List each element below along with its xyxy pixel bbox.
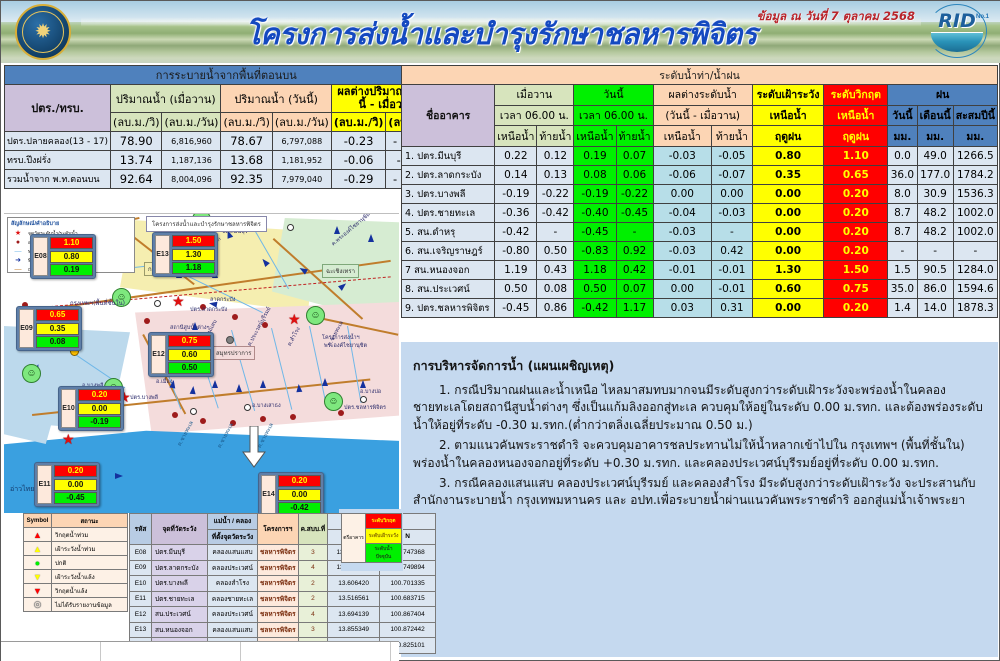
map-project-label: พระองค์ไชยานุชิต — [324, 342, 367, 350]
map-gate-icon — [226, 336, 234, 344]
right-cell-yest-up: 0.22 — [495, 147, 537, 166]
right-row-name: 4. ปตร.ชายทะเล — [402, 204, 495, 223]
callout-watch-value: 0.00 — [78, 403, 121, 415]
left-group-yesterday: ปริมาณน้ำ (เมื่อวาน) — [111, 85, 221, 113]
map-gate-label: ปตร.บางพลี — [130, 394, 158, 402]
right-cell-rain-month: - — [917, 242, 953, 261]
left-cell-y-cmd: 6,816,960 — [162, 132, 221, 151]
callout-crisis-value: 1.10 — [50, 237, 93, 249]
status-col-header: สถานะ — [52, 514, 128, 528]
station-project-header: โครงการฯ — [258, 514, 299, 545]
station-cell-east: 13.606420 — [328, 576, 380, 592]
status-symbol-icon: ● — [24, 556, 52, 570]
station-cell-qty: 4 — [298, 560, 327, 576]
right-cell-rain-today: 8.0 — [888, 185, 917, 204]
station-cell-project: ชลหารพิจิตร — [258, 576, 299, 592]
left-unit-y-cmd: (ลบ.ม./วัน) — [162, 113, 221, 132]
left-unit-y-cms: (ลบ.ม./วิ) — [111, 113, 162, 132]
right-cell-today-up: -0.83 — [574, 242, 616, 261]
left-cell-y-cmd: 1,187,136 — [162, 151, 221, 170]
station-qty-header: ค.สบบ.ที่ — [298, 514, 327, 545]
status-symbol-label: ไม่ได้รับรายงานข้อมูล — [52, 598, 128, 612]
canal-line-icon: — — [11, 247, 25, 256]
right-cell-rain-year: - — [953, 242, 997, 261]
table-row: 4. ปตร.ชายทะเล-0.36-0.42-0.40-0.45-0.04-… — [402, 204, 998, 223]
map-structure-dot — [290, 414, 296, 420]
right-cell-diff-down: -0.05 — [712, 147, 753, 166]
map-pump-label: สถานีสูบน้ำต่างๆ — [170, 324, 210, 332]
right-today-down-head: ท้ายน้ำ — [616, 126, 653, 147]
table-row: 9. ปตร.ชลหารพิจิตร-0.450.86-0.421.170.03… — [402, 299, 998, 318]
right-cell-yest-down: -0.22 — [537, 185, 574, 204]
map-gate-label: ปตร.ลาดกระบัง — [190, 306, 227, 314]
map-structure-dot — [144, 318, 150, 324]
right-cell-diff-up: 0.00 — [653, 280, 711, 299]
left-cell-t-cmd: 6,797,088 — [272, 132, 331, 151]
right-cell-crisis-level: 0.20 — [824, 242, 888, 261]
station-name-header: จุดที่วัดระวัง — [152, 514, 208, 545]
station-cell-north: 100.683715 — [380, 591, 436, 607]
right-cell-today-down: 0.07 — [616, 280, 653, 299]
callout-station-code: E13 — [155, 235, 170, 274]
right-cell-yest-up: 0.50 — [495, 280, 537, 299]
right-cell-rain-today: 8.7 — [888, 223, 917, 242]
right-cell-diff-down: -0.01 — [712, 261, 753, 280]
left-row-name: รวมน้ำจาก พ.ท.ตอนบน — [5, 170, 111, 189]
note-item-2: 2. ตามแนวคันพระราชดำริ จะควบคุมอาคารชลปร… — [413, 437, 988, 472]
right-cell-today-down: 0.06 — [616, 166, 653, 185]
level-legend-crisis: ระดับวิกฤต — [366, 514, 402, 529]
station-cell-name: สน.หนองจอก — [152, 622, 208, 638]
right-cell-today-down: 0.92 — [616, 242, 653, 261]
callout-values: 1.100.800.19 — [50, 237, 93, 276]
notes-title: การบริหารจัดการน้ำ (แผนเผชิญเหตุ) — [413, 356, 988, 376]
right-cell-rain-year: 1002.0 — [953, 204, 997, 223]
station-cell-canal: คลองแสนแสบ — [208, 545, 258, 561]
bottom-strip — [1, 641, 399, 661]
table-header-row-1: ชื่ออาคาร เมื่อวาน วันนี้ ผลต่างระดับน้ำ… — [402, 85, 998, 106]
callout-crisis-value: 0.75 — [168, 335, 211, 347]
right-time-yesterday: เวลา 06.00 น. — [495, 105, 574, 126]
list-item: ▲เฝ้าระวังน้ำท่วม — [24, 542, 128, 556]
right-cell-watch-level: 1.30 — [752, 261, 824, 280]
status-symbol-label: วิกฤตน้ำท่วม — [52, 528, 128, 542]
right-cell-diff-up: -0.03 — [653, 147, 711, 166]
bottom-strip-cell — [1, 642, 101, 661]
right-cell-diff-up: -0.03 — [653, 223, 711, 242]
map-callout-E12[interactable]: E120.750.600.50 — [148, 332, 214, 377]
right-cell-rain-year: 1594.6 — [953, 280, 997, 299]
right-cell-diff-up: -0.01 — [653, 261, 711, 280]
table-row: 6. สน.เจริญราษฎร์-0.800.50-0.830.92-0.03… — [402, 242, 998, 261]
right-cell-diff-down: 0.42 — [712, 242, 753, 261]
map-region-label: ฉะเชิงเทรา — [322, 264, 359, 278]
station-cell-qty: 2 — [298, 591, 327, 607]
station-cell-project: ชลหารพิจิตร — [258, 560, 299, 576]
left-row-name: ทรบ.ปึงฝรั่ง — [5, 151, 111, 170]
map-place-label: อ.บางบ่อ — [360, 388, 381, 396]
table-row: 5. สน.ดำหรุ-0.42--0.45--0.03-0.000.208.7… — [402, 223, 998, 242]
right-rain-today-head: วันนี้ — [888, 105, 917, 126]
callout-crisis-value: 0.20 — [54, 465, 97, 477]
left-cell-t-cms: 92.35 — [221, 170, 272, 189]
royal-seal-icon: ✹ — [15, 4, 71, 60]
right-cell-crisis-level: 0.20 — [824, 223, 888, 242]
left-col-structure-name: ปตร./ทรบ. — [5, 85, 111, 132]
status-smiley-icon: ☺ — [22, 364, 41, 383]
symbol-col-header: Symbol — [24, 514, 52, 528]
map-structure-dot — [200, 418, 206, 424]
station-cell-code: E08 — [130, 545, 152, 561]
list-item: ▼เฝ้าระวังน้ำแล้ง — [24, 570, 128, 584]
station-cell-qty: 3 — [298, 545, 327, 561]
right-cell-rain-today: 0.0 — [888, 147, 917, 166]
map-junction-icon — [244, 404, 251, 411]
callout-current-value: -0.45 — [54, 492, 97, 504]
right-cell-today-up: -0.45 — [574, 223, 616, 242]
right-cell-rain-month: 30.9 — [917, 185, 953, 204]
right-cell-today-down: 1.17 — [616, 299, 653, 318]
right-cell-yest-down: 0.08 — [537, 280, 574, 299]
map-callout-E14[interactable]: E140.200.00-0.42 — [258, 472, 324, 513]
left-cell-y-cms: 92.64 — [111, 170, 162, 189]
right-cell-today-up: 0.50 — [574, 280, 616, 299]
right-cell-rain-year: 1266.5 — [953, 147, 997, 166]
status-symbol-icon: ▲ — [24, 542, 52, 556]
map-junction-icon — [287, 224, 294, 231]
callout-values: 0.750.600.50 — [168, 335, 211, 374]
right-cell-diff-up: 0.00 — [653, 185, 711, 204]
callout-values: 0.650.350.08 — [36, 309, 79, 348]
table-header-row-1: ปตร./ทรบ. ปริมาณน้ำ (เมื่อวาน) ปริมาณน้ำ… — [5, 85, 449, 113]
table-row: E10ปตร.บางพลีคลองสำโรงชลหารพิจิตร213.606… — [130, 576, 436, 592]
left-group-title: การระบายน้ำจากพื้นที่ตอนบน — [5, 66, 449, 85]
left-cell-y-cms: 78.90 — [111, 132, 162, 151]
table-row: 7 สน.หนองจอก1.190.431.180.42-0.01-0.011.… — [402, 261, 998, 280]
station-cell-canal: คลองชายทะเล — [208, 591, 258, 607]
flow-arrow-icon — [260, 380, 266, 388]
left-row-name: ปตร.ปลายคลอง(13 - 17) — [5, 132, 111, 151]
callout-watch-value: 0.00 — [278, 489, 321, 501]
status-symbol-label: เฝ้าระวังน้ำท่วม — [52, 542, 128, 556]
right-today-up-head: เหนือน้ำ — [574, 126, 616, 147]
right-cell-yest-up: 1.19 — [495, 261, 537, 280]
map-callout-E08[interactable]: E081.100.800.19 — [30, 234, 96, 279]
table-group-title-row: การระบายน้ำจากพื้นที่ตอนบน — [5, 66, 449, 85]
right-cell-watch-level: 0.00 — [752, 223, 824, 242]
right-cell-diff-up: -0.06 — [653, 166, 711, 185]
right-cell-rain-today: 35.0 — [888, 280, 917, 299]
right-watch-season: ฤดูฝน — [752, 126, 824, 147]
right-row-name: 7 สน.หนองจอก — [402, 261, 495, 280]
right-row-name: 2. ปตร.ลาดกระบัง — [402, 166, 495, 185]
left-cell-y-cms: 13.74 — [111, 151, 162, 170]
gauge-star-icon: ★ — [62, 432, 75, 446]
map-structure-dot — [260, 416, 266, 422]
flow-arrow-icon — [360, 380, 366, 388]
right-cell-today-up: 0.08 — [574, 166, 616, 185]
left-cell-t-cms: 13.68 — [221, 151, 272, 170]
level-color-legend: ตรีอาคาร ระดับวิกฤต ระดับเฝ้าระวัง ระดับ… — [341, 513, 403, 571]
station-cell-east: 13.694139 — [328, 607, 380, 623]
right-cell-watch-level: 0.00 — [752, 204, 824, 223]
right-group-diff: ผลต่างระดับน้ำ — [653, 85, 752, 106]
list-item: ●ปกติ — [24, 556, 128, 570]
right-cell-yest-down: -0.42 — [537, 204, 574, 223]
right-cell-rain-year: 1284.0 — [953, 261, 997, 280]
right-cell-crisis-level: 0.75 — [824, 280, 888, 299]
station-cell-name: ปตร.ชายทะเล — [152, 591, 208, 607]
map-callout-E11[interactable]: E110.200.00-0.45 — [34, 462, 100, 507]
rid-logo: RID No.1 — [921, 6, 993, 58]
right-cell-yest-up: 0.14 — [495, 166, 537, 185]
right-cell-crisis-level: 0.65 — [824, 166, 888, 185]
status-symbol-label: เฝ้าระวังน้ำแล้ง — [52, 570, 128, 584]
map-callout-E09[interactable]: E090.650.350.08 — [16, 306, 82, 351]
right-cell-today-down: 0.07 — [616, 147, 653, 166]
right-cell-rain-month: 90.5 — [917, 261, 953, 280]
right-cell-today-up: 0.19 — [574, 147, 616, 166]
right-cell-diff-down: 0.00 — [712, 185, 753, 204]
left-cell-t-cms: 78.67 — [221, 132, 272, 151]
callout-current-value: 1.18 — [172, 262, 215, 274]
flow-arrow-icon: ➜ — [11, 256, 25, 265]
flow-arrow-icon — [368, 234, 374, 242]
callout-crisis-value: 1.50 — [172, 235, 215, 247]
level-legend-watch: ระดับเฝ้าระวัง — [366, 529, 402, 544]
level-legend-current: ระดับน้ำปัจจุบัน — [366, 544, 402, 563]
station-cell-north: 100.872442 — [380, 622, 436, 638]
station-cell-code: E11 — [130, 591, 152, 607]
right-cell-diff-down: -0.01 — [712, 280, 753, 299]
right-cell-watch-level: 0.35 — [752, 166, 824, 185]
callout-station-code: E08 — [33, 237, 48, 276]
right-cell-rain-year: 1784.2 — [953, 166, 997, 185]
station-cell-code: E12 — [130, 607, 152, 623]
right-cell-yest-up: -0.19 — [495, 185, 537, 204]
right-cell-yest-down: - — [537, 223, 574, 242]
left-cell-d-cms: -0.23 — [331, 132, 386, 151]
right-row-name: 8. สน.ประเวศน์ — [402, 280, 495, 299]
right-cell-yest-down: 0.50 — [537, 242, 574, 261]
callout-current-value: 0.50 — [168, 362, 211, 374]
right-rain-month-head: เดือนนี้ — [917, 105, 953, 126]
right-cell-rain-today: 1.4 — [888, 299, 917, 318]
right-group-today: วันนี้ — [574, 85, 653, 106]
structure-dot-icon: ● — [11, 238, 25, 247]
station-cell-name: ปตร.บางพลี — [152, 576, 208, 592]
right-cell-rain-month: 49.0 — [917, 147, 953, 166]
right-crisis-season: ฤดูฝน — [824, 126, 888, 147]
schematic-map[interactable]: ★ ★ ★ ★ ★ ☺ ☺ ☺ ☺ ☺ ☺ ☺ กรุงเทพฯ สมุทรปร… — [4, 213, 399, 513]
right-cell-diff-down: -0.07 — [712, 166, 753, 185]
station-cell-qty: 4 — [298, 607, 327, 623]
status-symbol-icon: ◎ — [24, 598, 52, 612]
table-row: E12สน.ประเวศน์คลองประเวศน์ชลหารพิจิตร413… — [130, 607, 436, 623]
map-project-label: โครงการส่งน้ำฯ — [322, 334, 360, 342]
callout-current-value: 0.19 — [50, 264, 93, 276]
bottom-strip-cell — [241, 642, 391, 661]
right-group-title: ระดับน้ำท่า/น้ำฝน — [402, 66, 998, 85]
gauge-star-icon: ★ — [172, 294, 185, 308]
symbol-table-body: ▲วิกฤตน้ำท่วม▲เฝ้าระวังน้ำท่วม●ปกติ▼เฝ้า… — [24, 528, 128, 612]
map-callout-E13[interactable]: E131.501.301.18 — [152, 232, 218, 277]
water-management-notes: การบริหารจัดการน้ำ (แผนเผชิญเหตุ) 1. กรณ… — [401, 342, 998, 657]
left-cell-d-cms: -0.06 — [331, 151, 386, 170]
flow-arrow-icon — [296, 384, 303, 392]
station-cell-code: E13 — [130, 622, 152, 638]
right-cell-rain-year: 1002.0 — [953, 223, 997, 242]
right-cell-today-down: - — [616, 223, 653, 242]
station-cell-project: ชลหารพิจิตร — [258, 591, 299, 607]
callout-current-value: 0.08 — [36, 336, 79, 348]
callout-values: 0.200.00-0.19 — [78, 389, 121, 428]
callout-watch-value: 0.80 — [50, 251, 93, 263]
right-cell-diff-up: 0.03 — [653, 299, 711, 318]
right-cell-watch-level: 0.60 — [752, 280, 824, 299]
status-symbol-icon: ▼ — [24, 584, 52, 598]
table-row-total: รวมน้ำจาก พ.ท.ตอนบน 92.64 8,004,096 92.3… — [5, 170, 449, 189]
map-place-label: ลาดกระบัง — [210, 296, 235, 304]
right-row-name: 9. ปตร.ชลหารพิจิตร — [402, 299, 495, 318]
right-cell-diff-down: 0.31 — [712, 299, 753, 318]
right-time-today: เวลา 06.00 น. — [574, 105, 653, 126]
map-structure-dot — [232, 314, 238, 320]
right-diff-down-head: ท้ายน้ำ — [712, 126, 753, 147]
right-cell-yest-up: -0.80 — [495, 242, 537, 261]
right-cell-today-up: -0.19 — [574, 185, 616, 204]
callout-watch-value: 1.30 — [172, 249, 215, 261]
callout-station-code: E12 — [151, 335, 166, 374]
station-cell-project: ชลหารพิจิตร — [258, 607, 299, 623]
right-cell-yest-down: 0.13 — [537, 166, 574, 185]
right-rain-month-unit: มม. — [917, 126, 953, 147]
right-cell-crisis-level: 0.20 — [824, 185, 888, 204]
right-cell-rain-today: 8.7 — [888, 204, 917, 223]
status-smiley-icon: ☺ — [324, 392, 343, 411]
map-gate-label: ปตร.ชลหารพิจิตร — [344, 404, 386, 412]
map-callout-E10[interactable]: E100.200.00-0.19 — [58, 386, 124, 431]
callout-station-code: E10 — [61, 389, 76, 428]
right-cell-watch-level: 0.00 — [752, 185, 824, 204]
station-cell-canal: คลองประเวศน์ — [208, 607, 258, 623]
right-yest-down-head: ท้ายน้ำ — [537, 126, 574, 147]
status-symbol-icon: ▲ — [24, 528, 52, 542]
callout-station-code: E14 — [261, 475, 276, 513]
right-group-watch: ระดับเฝ้าระวัง — [752, 85, 824, 106]
callout-crisis-value: 0.20 — [278, 475, 321, 487]
station-cell-name: สน.ประเวศน์ — [152, 607, 208, 623]
left-cell-y-cmd: 8,004,096 — [162, 170, 221, 189]
station-code-header: รหัส — [130, 514, 152, 545]
station-cell-qty: 2 — [298, 576, 327, 592]
callout-current-value: -0.19 — [78, 416, 121, 428]
right-cell-today-up: 1.18 — [574, 261, 616, 280]
bottom-strip-cell — [101, 642, 241, 661]
right-cell-rain-today: - — [888, 242, 917, 261]
right-cell-today-down: -0.22 — [616, 185, 653, 204]
right-crisis-sub: เหนือน้ำ — [824, 105, 888, 126]
station-cell-name: ปตร.มีนบุรี — [152, 545, 208, 561]
table-row: ทรบ.ปึงฝรั่ง 13.74 1,187,136 13.68 1,181… — [5, 151, 449, 170]
note-item-1: 1. กรณีปริมาณฝนและน้ำเหนือ ไหลมาสมทบมากจ… — [413, 382, 988, 434]
upstream-discharge-table: การระบายน้ำจากพื้นที่ตอนบน ปตร./ทรบ. ปริ… — [4, 65, 449, 189]
map-gulf-label: อ่าวไทย — [10, 484, 34, 495]
symbol-table-header: Symbol สถานะ — [24, 514, 128, 528]
right-group-crisis: ระดับวิกฤต — [824, 85, 888, 106]
header-banner: ✹ โครงการส่งน้ำและบำรุงรักษาชลหารพิจิตร … — [1, 1, 1000, 63]
rid-ring-icon — [927, 4, 987, 58]
right-group-yesterday: เมื่อวาน — [495, 85, 574, 106]
callout-watch-value: 0.35 — [36, 323, 79, 335]
callout-crisis-value: 0.20 — [78, 389, 121, 401]
right-cell-today-down: -0.45 — [616, 204, 653, 223]
station-cell-name: ปตร.ลาดกระบัง — [152, 560, 208, 576]
right-cell-rain-month: 14.0 — [917, 299, 953, 318]
rid-logo-sup: No.1 — [976, 14, 989, 20]
flow-arrow-icon — [190, 386, 197, 394]
right-cell-diff-down: -0.03 — [712, 204, 753, 223]
right-cell-diff-up: -0.03 — [653, 242, 711, 261]
right-row-name: 3. ปตร.บางพลี — [402, 185, 495, 204]
right-cell-today-down: 0.42 — [616, 261, 653, 280]
right-watch-sub: เหนือน้ำ — [752, 105, 824, 126]
list-item: ◎ไม่ได้รับรายงานข้อมูล — [24, 598, 128, 612]
table-row: 2. ปตร.ลาดกระบัง0.140.130.080.06-0.06-0.… — [402, 166, 998, 185]
station-cell-code: E09 — [130, 560, 152, 576]
station-cell-canal: คลองสำโรง — [208, 576, 258, 592]
right-cell-today-up: -0.42 — [574, 299, 616, 318]
road-line-icon: — — [11, 265, 25, 274]
status-symbol-icon: ▼ — [24, 570, 52, 584]
right-cell-watch-level: 0.80 — [752, 147, 824, 166]
station-cell-project: ชลหารพิจิตร — [258, 545, 299, 561]
right-cell-yest-up: -0.45 — [495, 299, 537, 318]
station-cell-north: 100.701335 — [380, 576, 436, 592]
flow-arrow-icon — [322, 378, 328, 386]
right-cell-crisis-level: 1.50 — [824, 261, 888, 280]
left-unit-t-cms: (ลบ.ม./วิ) — [221, 113, 272, 132]
right-cell-rain-month: 86.0 — [917, 280, 953, 299]
callout-current-value: -0.42 — [278, 502, 321, 513]
right-yest-up-head: เหนือน้ำ — [495, 126, 537, 147]
map-place-label: อ.เมือง — [156, 378, 173, 386]
right-cell-rain-month: 48.2 — [917, 223, 953, 242]
table-row: ปตร.ปลายคลอง(13 - 17) 78.90 6,816,960 78… — [5, 132, 449, 151]
status-symbol-label: วิกฤตน้ำแล้ง — [52, 584, 128, 598]
station-canal-header: แม่น้ำ / คลอง — [208, 514, 258, 530]
status-smiley-icon: ☺ — [306, 306, 325, 325]
callout-values: 0.200.00-0.45 — [54, 465, 97, 504]
right-row-name: 1. ปตร.มีนบุรี — [402, 147, 495, 166]
table-row: 1. ปตร.มีนบุรี0.220.120.190.07-0.03-0.05… — [402, 147, 998, 166]
station-cell-east: 13.855349 — [328, 622, 380, 638]
status-symbol-label: ปกติ — [52, 556, 128, 570]
right-cell-crisis-level: 0.20 — [824, 204, 888, 223]
left-unit-d-cms: (ลบ.ม./วิ) — [331, 113, 386, 132]
note-item-3: 3. กรณีคลองแสนแสบ คลองประเวศน์บุรีรมย์ แ… — [413, 475, 988, 510]
right-cell-yest-up: -0.42 — [495, 223, 537, 242]
seal-glyph: ✹ — [22, 11, 64, 53]
right-cell-yest-down: 0.86 — [537, 299, 574, 318]
table-group-title-row: ระดับน้ำท่า/น้ำฝน — [402, 66, 998, 85]
left-unit-t-cmd: (ลบ.ม./วัน) — [272, 113, 331, 132]
station-cell-project: ชลหารพิจิตร — [258, 622, 299, 638]
right-cell-watch-level: 0.00 — [752, 242, 824, 261]
right-cell-rain-month: 48.2 — [917, 204, 953, 223]
map-region-label: สมุทรปราการ — [212, 346, 255, 360]
right-cell-crisis-level: 1.10 — [824, 147, 888, 166]
